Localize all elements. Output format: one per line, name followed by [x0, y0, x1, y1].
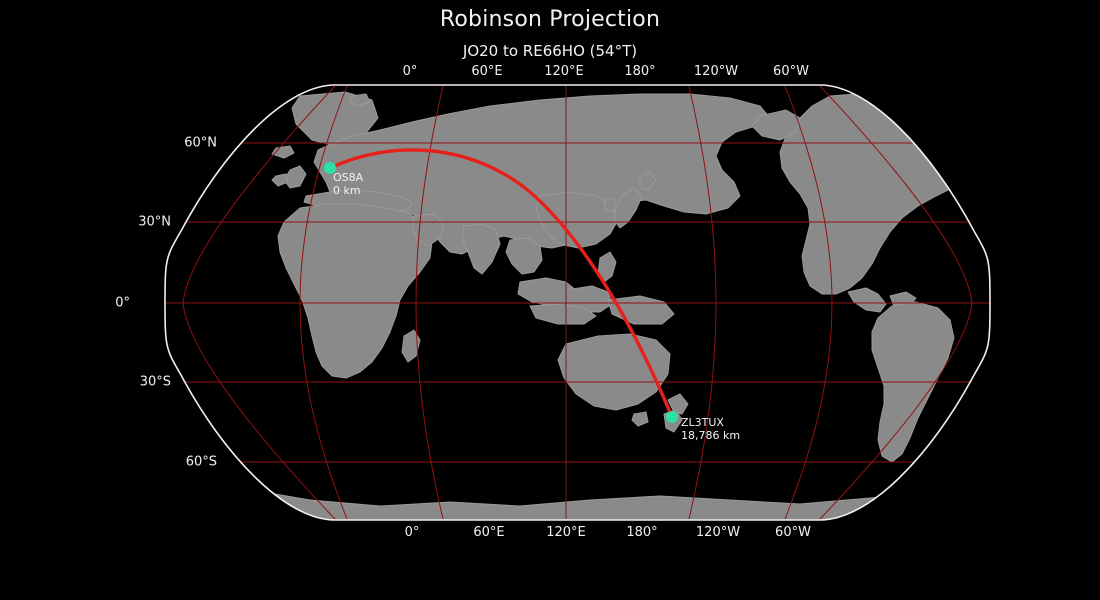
station-label-origin: OS8A 0 km [333, 171, 363, 197]
station-distance-destination: 18,786 km [681, 429, 740, 442]
station-label-destination: ZL3TUX 18,786 km [681, 416, 740, 442]
station-callsign-destination: ZL3TUX [681, 416, 740, 429]
world-map [0, 0, 1100, 600]
map-figure: Robinson Projection JO20 to RE66HO (54°T… [0, 0, 1100, 600]
station-marker-destination[interactable] [666, 411, 678, 423]
station-callsign-origin: OS8A [333, 171, 363, 184]
station-distance-origin: 0 km [333, 184, 363, 197]
map-interior [140, 80, 1000, 530]
